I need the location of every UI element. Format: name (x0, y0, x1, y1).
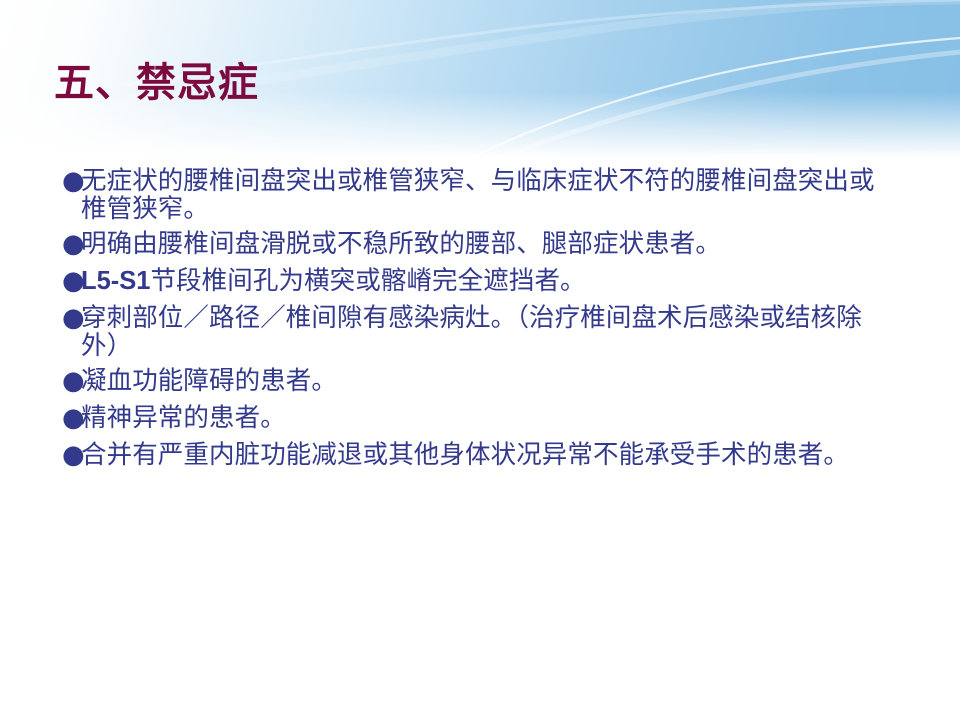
page-title: 五、禁忌症 (54, 61, 259, 105)
bullet-icon: ● (62, 441, 81, 469)
bullet-icon: ● (62, 404, 81, 432)
list-item: ● 精神异常的患者。 (62, 404, 892, 432)
bullet-icon: ● (62, 267, 81, 295)
list-item-text: 无症状的腰椎间盘突出或椎管狭窄、与临床症状不符的腰椎间盘突出或椎管狭窄。 (81, 167, 892, 223)
list-item: ● 穿刺部位／路径／椎间隙有感染病灶。（治疗椎间盘术后感染或结核除外） (62, 304, 892, 360)
contraindication-list: ● 无症状的腰椎间盘突出或椎管狭窄、与临床症状不符的腰椎间盘突出或椎管狭窄。 ●… (62, 167, 892, 478)
list-item: ● 明确由腰椎间盘滑脱或不稳所致的腰部、腿部症状患者。 (62, 230, 892, 258)
list-item-text: L5-S1节段椎间孔为横突或髂嵴完全遮挡者。 (81, 267, 892, 295)
bullet-icon: ● (62, 167, 81, 195)
swoosh-line-primary (470, 38, 960, 158)
list-item: ● 凝血功能障碍的患者。 (62, 367, 892, 395)
list-item-text: 精神异常的患者。 (81, 404, 892, 432)
list-item: ● 无症状的腰椎间盘突出或椎管狭窄、与临床症状不符的腰椎间盘突出或椎管狭窄。 (62, 167, 892, 223)
swoosh-line-secondary (500, 52, 960, 158)
list-item-text: 穿刺部位／路径／椎间隙有感染病灶。（治疗椎间盘术后感染或结核除外） (81, 304, 892, 360)
list-item-text: 明确由腰椎间盘滑脱或不稳所致的腰部、腿部症状患者。 (81, 230, 892, 258)
bullet-icon: ● (62, 230, 81, 258)
bullet-icon: ● (62, 367, 81, 395)
bullet-icon: ● (62, 304, 81, 332)
list-item-latin-prefix: L5-S1 (81, 267, 150, 295)
list-item: ● 合并有严重内脏功能减退或其他身体状况异常不能承受手术的患者。 (62, 441, 892, 469)
list-item: ● L5-S1节段椎间孔为横突或髂嵴完全遮挡者。 (62, 267, 892, 295)
list-item-text-body: 节段椎间孔为横突或髂嵴完全遮挡者。 (150, 266, 585, 295)
list-item-text: 凝血功能障碍的患者。 (81, 367, 892, 395)
list-item-text: 合并有严重内脏功能减退或其他身体状况异常不能承受手术的患者。 (81, 441, 892, 469)
slide: 五、禁忌症 ● 无症状的腰椎间盘突出或椎管狭窄、与临床症状不符的腰椎间盘突出或椎… (0, 0, 960, 720)
